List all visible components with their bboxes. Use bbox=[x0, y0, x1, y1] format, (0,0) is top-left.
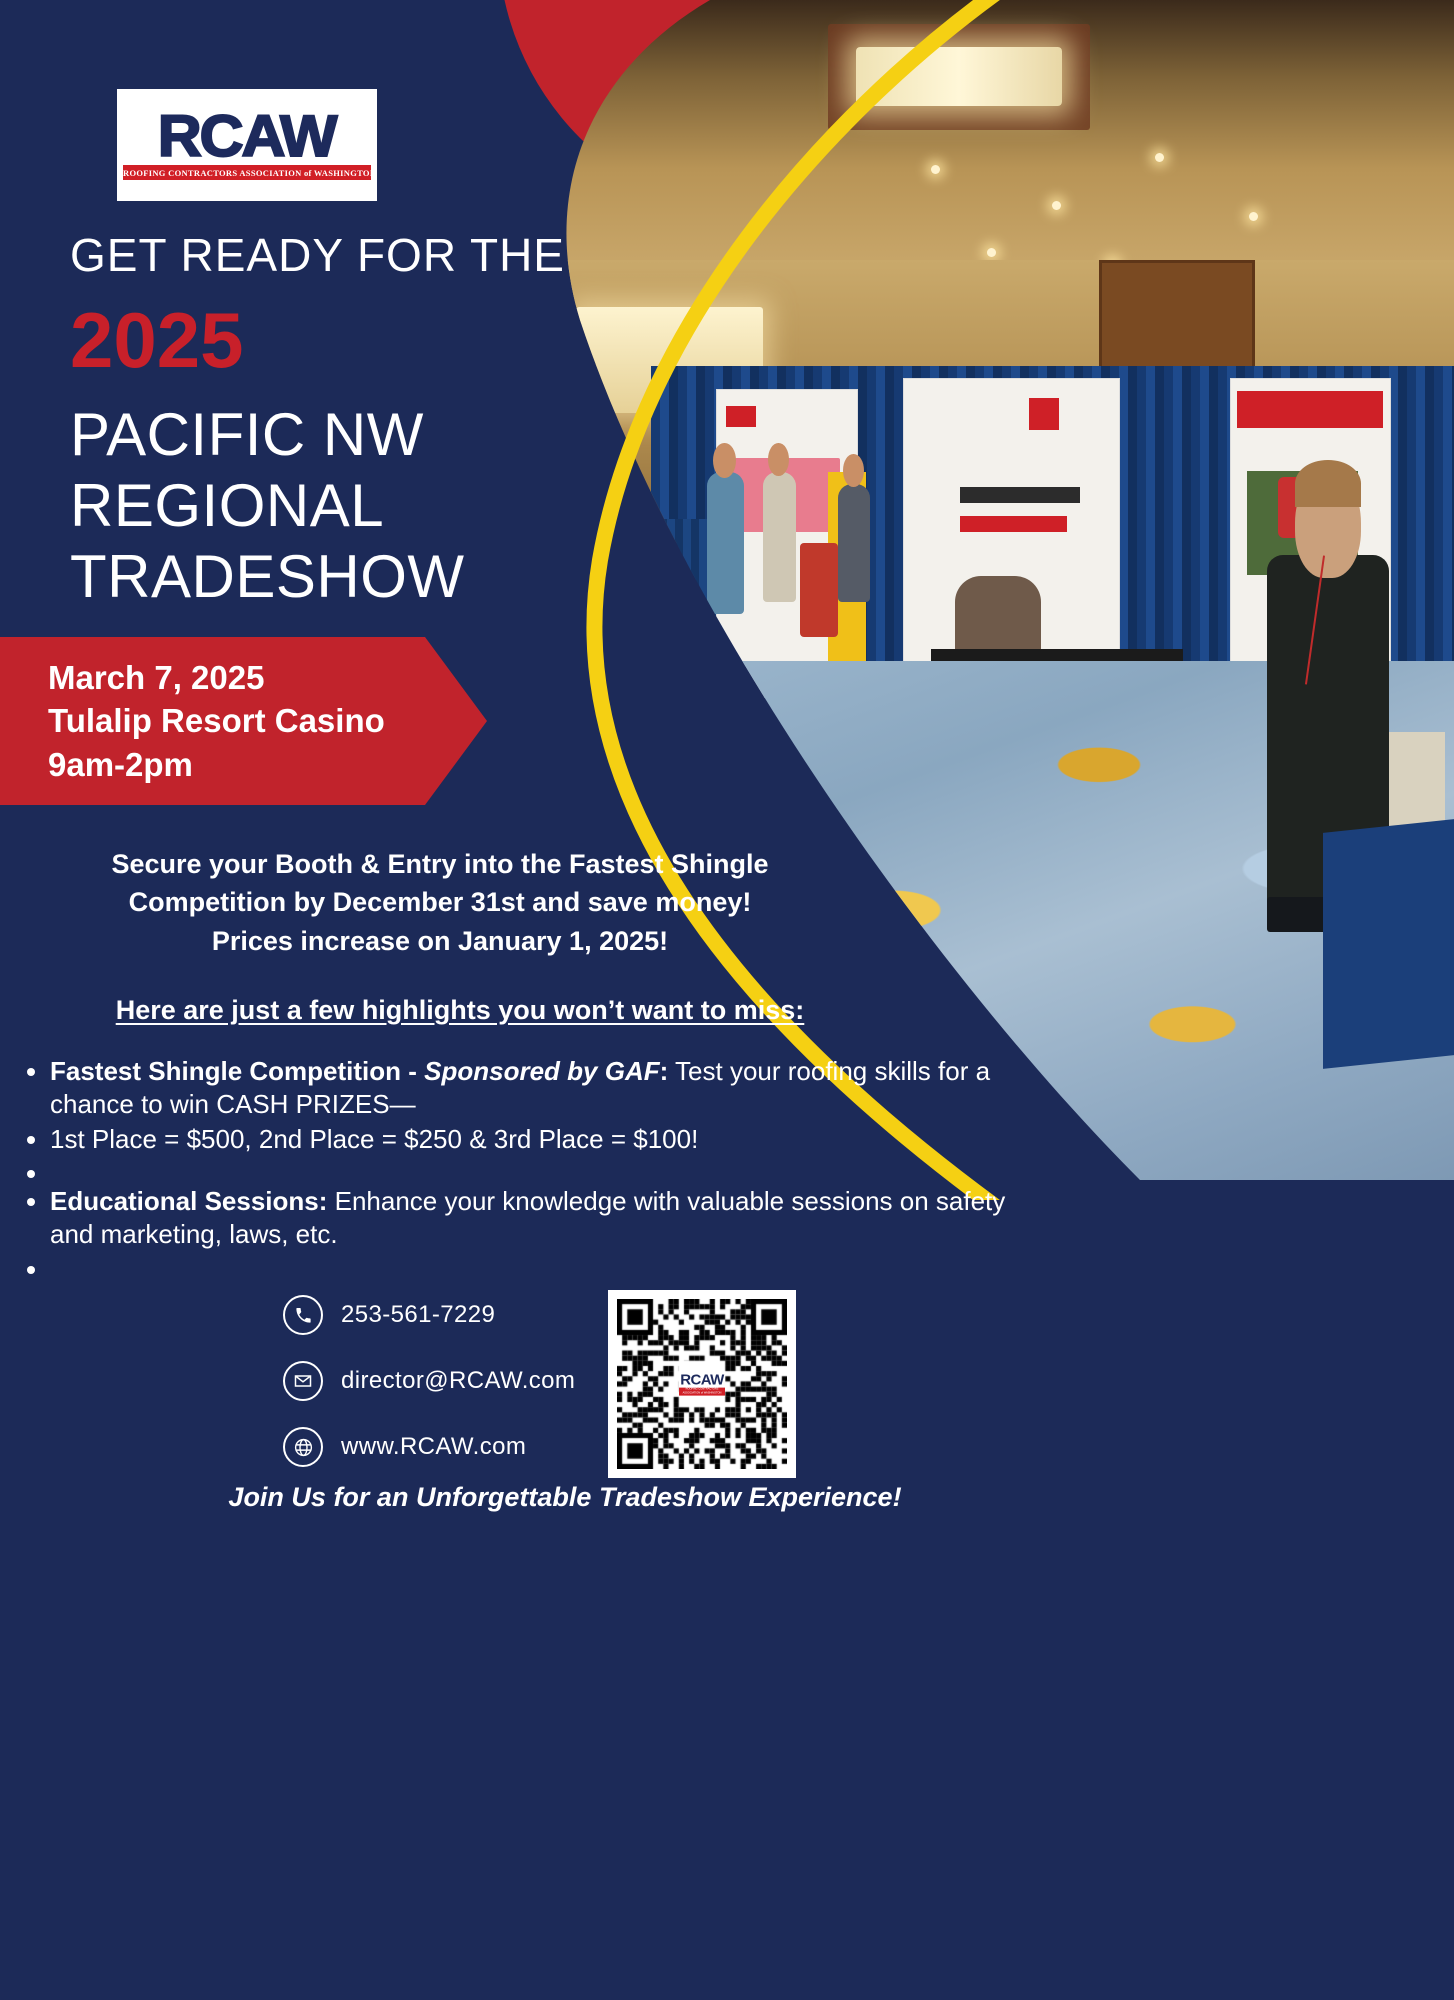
contact-block: 253-561-7229 director@RCAW.com www.RCAW.… bbox=[283, 1295, 575, 1493]
list-item-text: 1st Place = $500, 2nd Place = $250 & 3rd… bbox=[50, 1124, 698, 1154]
photo-attendee-hair bbox=[1295, 460, 1360, 507]
banner-arrow-tip bbox=[425, 637, 487, 805]
event-venue: Tulalip Resort Casino bbox=[48, 699, 385, 743]
list-item: Fastest Shingle Competition - Sponsored … bbox=[50, 1055, 1050, 1121]
highlights-heading: Here are just a few highlights you won’t… bbox=[30, 995, 890, 1026]
rcaw-logo: RCAW ROOFING CONTRACTORS ASSOCIATION of … bbox=[117, 89, 377, 201]
globe-icon bbox=[283, 1427, 323, 1467]
photo-booth-drape-left bbox=[520, 519, 725, 779]
envelope-icon bbox=[283, 1361, 323, 1401]
list-item: Educational Sessions: Enhance your knowl… bbox=[50, 1185, 1050, 1251]
promo-line-3: Prices increase on January 1, 2025! bbox=[30, 922, 850, 960]
promo-text: Secure your Booth & Entry into the Faste… bbox=[30, 845, 850, 960]
list-item bbox=[50, 1253, 1050, 1279]
list-item-sponsor: Sponsored by GAF bbox=[424, 1056, 659, 1086]
highlights-list: Fastest Shingle Competition - Sponsored … bbox=[10, 1055, 1050, 1281]
promo-line-2: Competition by December 31st and save mo… bbox=[30, 883, 850, 921]
list-item-label: Educational Sessions: bbox=[50, 1186, 327, 1216]
qr-center-logo: RCAW ROOFING CONTRACTORS ASSOCIATION of … bbox=[679, 1372, 725, 1397]
event-date: March 7, 2025 bbox=[48, 656, 385, 700]
title-line-3: TRADESHOW bbox=[70, 542, 465, 613]
promo-line-1: Secure your Booth & Entry into the Faste… bbox=[30, 845, 850, 883]
qr-code[interactable]: RCAW ROOFING CONTRACTORS ASSOCIATION of … bbox=[608, 1290, 796, 1478]
title-line-2: REGIONAL bbox=[70, 471, 465, 542]
logo-wordmark: RCAW bbox=[158, 110, 336, 163]
contact-row-email[interactable]: director@RCAW.com bbox=[283, 1361, 575, 1401]
event-details-banner: March 7, 2025 Tulalip Resort Casino 9am-… bbox=[0, 637, 425, 805]
list-item-label: Fastest Shingle Competition - bbox=[50, 1056, 424, 1086]
list-item bbox=[50, 1157, 1050, 1183]
list-item: 1st Place = $500, 2nd Place = $250 & 3rd… bbox=[50, 1123, 1050, 1156]
footer-tagline: Join Us for an Unforgettable Tradeshow E… bbox=[0, 1482, 1130, 1513]
event-time: 9am-2pm bbox=[48, 743, 385, 787]
contact-row-phone[interactable]: 253-561-7229 bbox=[283, 1295, 575, 1335]
website-url: www.RCAW.com bbox=[341, 1433, 526, 1461]
photo-blue-display bbox=[1323, 819, 1454, 1069]
phone-number: 253-561-7229 bbox=[341, 1301, 495, 1329]
headline-year: 2025 bbox=[70, 295, 244, 386]
headline-kicker: GET READY FOR THE bbox=[70, 228, 565, 282]
list-item-label-tail: : bbox=[660, 1056, 669, 1086]
title-line-1: PACIFIC NW bbox=[70, 400, 465, 471]
contact-row-website[interactable]: www.RCAW.com bbox=[283, 1427, 575, 1467]
poster-canvas: RCAW ROOFING CONTRACTORS ASSOCIATION of … bbox=[0, 0, 1454, 2000]
page-title: PACIFIC NW REGIONAL TRADESHOW bbox=[70, 400, 465, 612]
phone-icon bbox=[283, 1295, 323, 1335]
photo-chandelier bbox=[856, 47, 1061, 106]
email-address: director@RCAW.com bbox=[341, 1367, 575, 1395]
